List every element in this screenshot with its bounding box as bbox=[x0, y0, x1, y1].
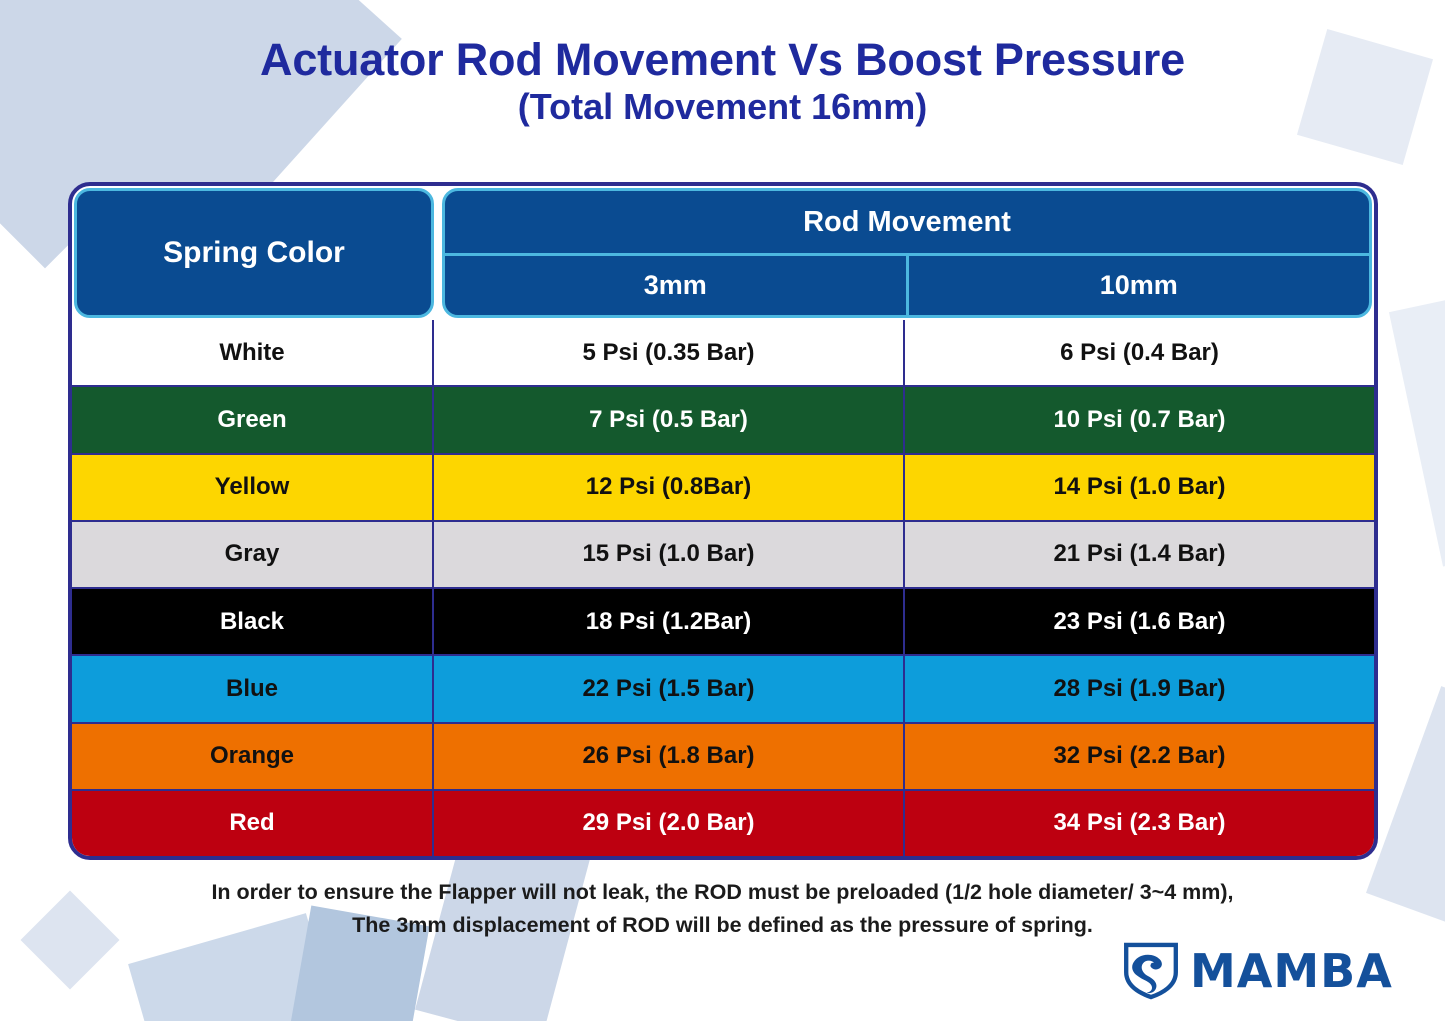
footer-line-2: The 3mm displacement of ROD will be defi… bbox=[0, 909, 1445, 942]
header-col-10mm: 10mm bbox=[906, 256, 1370, 315]
cell-spring-color: Blue bbox=[72, 656, 434, 721]
table-row: Red29 Psi (2.0 Bar)34 Psi (2.3 Bar) bbox=[72, 789, 1374, 856]
cell-spring-color: Gray bbox=[72, 522, 434, 587]
table-body: White5 Psi (0.35 Bar)6 Psi (0.4 Bar)Gree… bbox=[72, 320, 1374, 856]
table-row: White5 Psi (0.35 Bar)6 Psi (0.4 Bar) bbox=[72, 320, 1374, 385]
snake-shield-icon bbox=[1120, 940, 1182, 1002]
table-row: Orange26 Psi (1.8 Bar)32 Psi (2.2 Bar) bbox=[72, 722, 1374, 789]
poster-page: Actuator Rod Movement Vs Boost Pressure … bbox=[0, 0, 1445, 1021]
cell-spring-color: Yellow bbox=[72, 455, 434, 520]
table-row: Gray15 Psi (1.0 Bar)21 Psi (1.4 Bar) bbox=[72, 520, 1374, 587]
table-row: Yellow12 Psi (0.8Bar)14 Psi (1.0 Bar) bbox=[72, 453, 1374, 520]
cell-pressure-3mm: 18 Psi (1.2Bar) bbox=[434, 589, 903, 654]
header-col-3mm: 3mm bbox=[445, 256, 906, 315]
table-row: Black18 Psi (1.2Bar)23 Psi (1.6 Bar) bbox=[72, 587, 1374, 654]
cell-pressure-3mm: 26 Psi (1.8 Bar) bbox=[434, 724, 903, 789]
title-line-2: (Total Movement 16mm) bbox=[0, 88, 1445, 126]
cell-spring-color: White bbox=[72, 320, 434, 385]
table-row: Blue22 Psi (1.5 Bar)28 Psi (1.9 Bar) bbox=[72, 654, 1374, 721]
cell-spring-color: Red bbox=[72, 791, 434, 856]
pressure-table: Spring Color Rod Movement 3mm 10mm White… bbox=[68, 182, 1378, 860]
header-rod-subcolumns: 3mm 10mm bbox=[445, 253, 1369, 315]
cell-pressure-3mm: 15 Psi (1.0 Bar) bbox=[434, 522, 903, 587]
table-row: Green7 Psi (0.5 Bar)10 Psi (0.7 Bar) bbox=[72, 385, 1374, 452]
cell-pressure-3mm: 22 Psi (1.5 Bar) bbox=[434, 656, 903, 721]
cell-pressure-10mm: 21 Psi (1.4 Bar) bbox=[903, 522, 1374, 587]
cell-pressure-3mm: 29 Psi (2.0 Bar) bbox=[434, 791, 903, 856]
cell-spring-color: Green bbox=[72, 387, 434, 452]
header-rod-movement-group: Rod Movement 3mm 10mm bbox=[442, 188, 1372, 318]
footer-note: In order to ensure the Flapper will not … bbox=[0, 876, 1445, 943]
header-spring-color: Spring Color bbox=[74, 188, 434, 318]
table-header: Spring Color Rod Movement 3mm 10mm bbox=[72, 186, 1374, 320]
cell-pressure-10mm: 23 Psi (1.6 Bar) bbox=[903, 589, 1374, 654]
mamba-logo: MAMBA bbox=[1120, 940, 1393, 1002]
cell-pressure-10mm: 6 Psi (0.4 Bar) bbox=[903, 320, 1374, 385]
title-line-1: Actuator Rod Movement Vs Boost Pressure bbox=[0, 36, 1445, 84]
cell-pressure-3mm: 12 Psi (0.8Bar) bbox=[434, 455, 903, 520]
cell-spring-color: Black bbox=[72, 589, 434, 654]
cell-spring-color: Orange bbox=[72, 724, 434, 789]
header-rod-movement: Rod Movement bbox=[445, 191, 1369, 253]
cell-pressure-10mm: 14 Psi (1.0 Bar) bbox=[903, 455, 1374, 520]
cell-pressure-10mm: 28 Psi (1.9 Bar) bbox=[903, 656, 1374, 721]
cell-pressure-3mm: 7 Psi (0.5 Bar) bbox=[434, 387, 903, 452]
cell-pressure-10mm: 34 Psi (2.3 Bar) bbox=[903, 791, 1374, 856]
cell-pressure-10mm: 10 Psi (0.7 Bar) bbox=[903, 387, 1374, 452]
mamba-wordmark: MAMBA bbox=[1190, 944, 1393, 998]
cell-pressure-10mm: 32 Psi (2.2 Bar) bbox=[903, 724, 1374, 789]
page-title: Actuator Rod Movement Vs Boost Pressure … bbox=[0, 0, 1445, 126]
footer-line-1: In order to ensure the Flapper will not … bbox=[0, 876, 1445, 909]
cell-pressure-3mm: 5 Psi (0.35 Bar) bbox=[434, 320, 903, 385]
